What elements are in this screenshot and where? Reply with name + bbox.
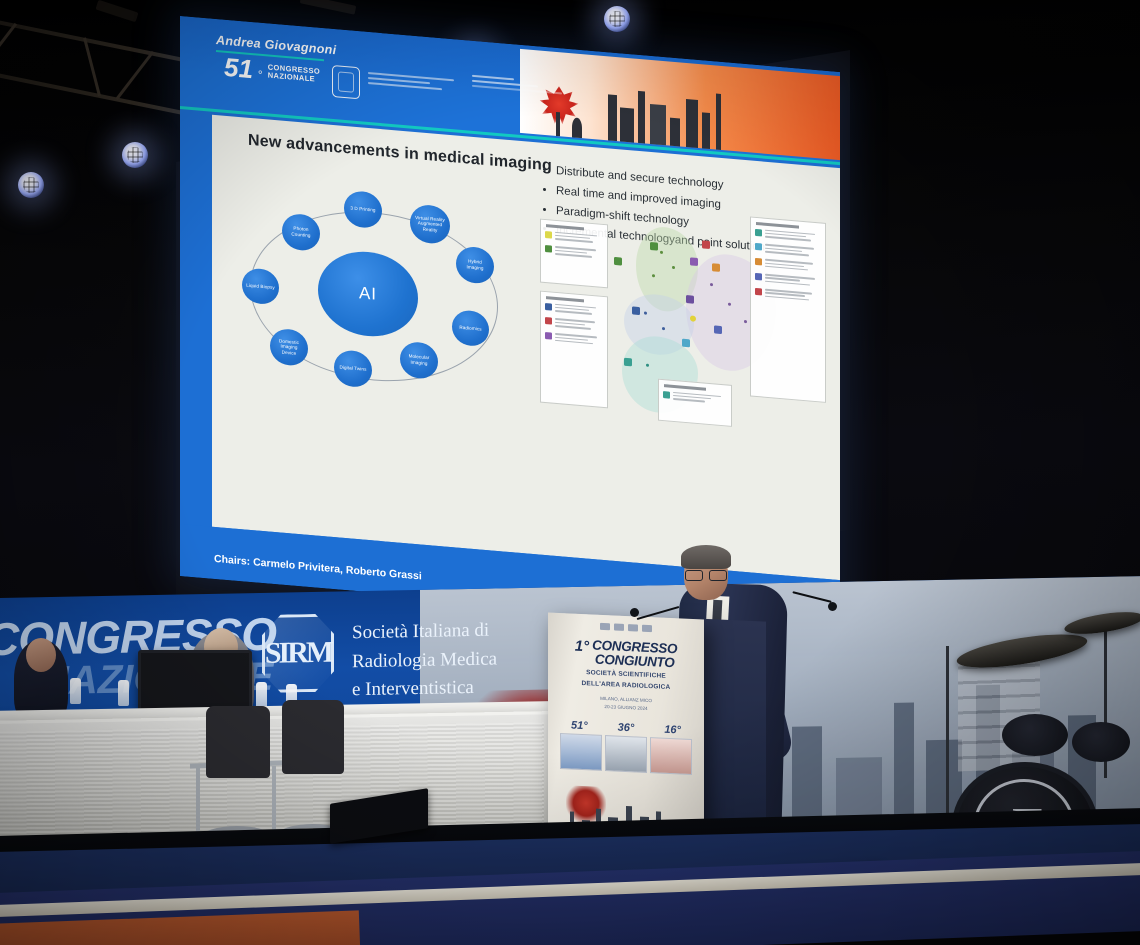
podium-number: 16°: [664, 724, 681, 737]
congress-line2: NAZIONALE: [268, 71, 320, 84]
office-chair: [206, 706, 270, 778]
slide-title: New advancements in medical imaging: [248, 132, 552, 176]
sirm-logo-letters: SIRM: [262, 614, 334, 693]
cluster-tag: [632, 306, 640, 315]
sirm-logo-icon: [332, 65, 360, 99]
microphone-icon: [828, 602, 837, 611]
cluster-tag: [702, 240, 710, 249]
cluster-tag: [686, 295, 694, 304]
cluster-dot: [644, 311, 647, 314]
cymbal-stand: [946, 646, 949, 836]
water-bottle: [70, 678, 81, 704]
podium-number: 36°: [618, 721, 635, 734]
annotation-box: [658, 379, 732, 427]
panelist-head: [26, 638, 56, 672]
cluster-tag: [690, 257, 698, 266]
annotation-box: [750, 216, 826, 402]
desk-leg: [196, 766, 200, 840]
cluster-dot: [646, 364, 649, 367]
society-line-3: e Interventistica: [352, 673, 497, 704]
cluster-dot: [672, 266, 675, 269]
research-cluster-map: [540, 199, 826, 435]
cluster-dot: [662, 327, 665, 330]
microphone-icon: [630, 608, 639, 617]
office-chair: [282, 700, 344, 774]
speaker-hair: [681, 545, 731, 569]
cluster-tag: [712, 263, 720, 272]
water-bottle: [256, 682, 267, 708]
cluster-dot: [690, 315, 696, 322]
congress-degree: °: [258, 68, 263, 82]
slide-canvas: New advancements in medical imaging Dist…: [212, 115, 840, 580]
speaker-glasses-icon: [685, 570, 727, 579]
cluster-dot: [728, 303, 731, 306]
podium-title-line2: CONGIUNTO: [592, 652, 677, 670]
cluster-tag: [682, 339, 690, 348]
podium-card-row: [556, 733, 696, 775]
cluster-dot: [660, 251, 663, 254]
presentation-slide: 25:52 Andrea Giovagnoni 51 ° CONGRESSO N…: [180, 16, 840, 632]
cluster-dot: [710, 283, 713, 286]
podium-card: [650, 737, 692, 775]
society-name: Società Italiana di Radiologia Medica e …: [352, 616, 497, 704]
conference-stage-photo: 25:52 Andrea Giovagnoni 51 ° CONGRESSO N…: [0, 0, 1140, 945]
cluster-tag: [624, 358, 632, 367]
annotation-box: [540, 291, 608, 409]
stage-light-icon: [604, 6, 630, 32]
water-bottle: [118, 680, 129, 706]
tom-drum: [1002, 714, 1068, 756]
podium-card: [605, 735, 647, 773]
cluster-tag: [650, 242, 658, 251]
cluster-tag: [714, 325, 722, 334]
cluster-dot: [652, 274, 655, 277]
annotation-box: [540, 219, 608, 289]
cluster-tag: [614, 257, 622, 266]
sirm-society-logo: SIRM: [262, 614, 334, 693]
society-line-2: Radiologia Medica: [352, 645, 497, 676]
stage-light-icon: [122, 142, 148, 168]
congress-number: 51: [224, 56, 253, 82]
podium-number: 51°: [571, 719, 588, 732]
society-line-1: Società Italiana di: [352, 616, 497, 647]
tom-drum: [1072, 722, 1130, 762]
podium-card: [560, 733, 602, 771]
screen-surface: 25:52 Andrea Giovagnoni 51 ° CONGRESSO N…: [180, 16, 840, 632]
ai-orbit-diagram: AI 3 D Printing Virtual Reality Augmente…: [240, 179, 510, 412]
cluster-dot: [744, 320, 747, 323]
projection-screen: 25:52 Andrea Giovagnoni 51 ° CONGRESSO N…: [150, 50, 850, 610]
podium-ordinal: 1°: [575, 638, 589, 656]
stage-light-icon: [18, 172, 44, 198]
